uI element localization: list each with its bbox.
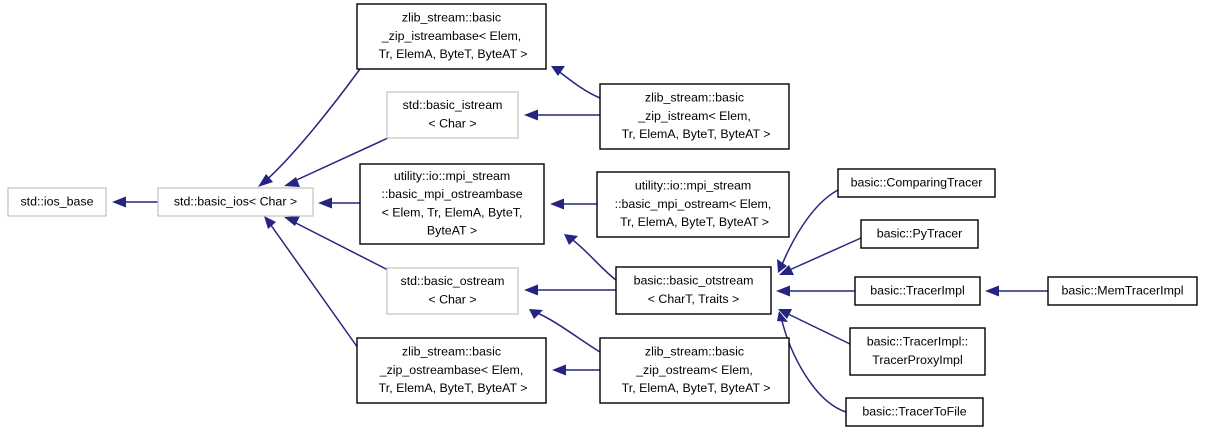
arrowhead-icon <box>112 197 126 208</box>
node-label-line: std::ios_base <box>20 194 93 208</box>
node-label-line: basic::TracerImpl:: <box>867 335 968 349</box>
node-label-line: basic::TracerImpl <box>870 283 965 297</box>
arrowhead-icon <box>776 286 790 297</box>
node-label-line: _zip_istreambase< Elem, <box>381 29 521 43</box>
nodes-layer: std::ios_basestd::basic_ios< Char >zlib_… <box>8 4 1197 426</box>
class-node-tracer_to_file[interactable]: basic::TracerToFile <box>846 398 983 426</box>
node-label-line: Tr, ElemA, ByteT, ByteAT > <box>617 215 769 229</box>
node-label-line: zlib_stream::basic <box>402 345 501 359</box>
edge-zip_istream-to-basic_istream <box>524 110 600 121</box>
node-label-line: _zip_istream< Elem, <box>637 109 751 123</box>
edge-line <box>570 238 616 280</box>
class-node-zip_ostreambase[interactable]: zlib_stream::basic_zip_ostreambase< Elem… <box>357 338 546 403</box>
inheritance-diagram: std::ios_basestd::basic_ios< Char >zlib_… <box>0 0 1205 432</box>
node-label-line: Tr, ElemA, ByteT, ByteAT > <box>618 127 770 141</box>
node-label-line: basic::PyTracer <box>877 226 963 240</box>
arrowhead-icon <box>524 285 538 296</box>
edge-line <box>781 317 846 412</box>
edge-mpi_ostream-to-mpi_ostreambase <box>550 199 597 210</box>
arrowhead-icon <box>985 286 999 297</box>
class-node-basic_ostream[interactable]: std::basic_ostream< Char > <box>387 268 518 314</box>
node-label-line: std::basic_ios< Char > <box>174 194 297 208</box>
node-label-line: TracerProxyImpl <box>872 353 962 367</box>
edge-line <box>268 221 358 348</box>
edge-zip_ostreambase-to-basic_ios <box>264 216 358 348</box>
edge-mem_tracer_impl-to-tracer_impl <box>985 286 1048 297</box>
edge-tracer_impl-to-basic_otstream <box>776 286 855 297</box>
edge-line <box>557 70 600 98</box>
node-label-line: basic::MemTracerImpl <box>1061 283 1183 297</box>
node-label-line: basic::ComparingTracer <box>851 175 983 189</box>
arrowhead-icon <box>524 110 538 121</box>
class-node-ios_base[interactable]: std::ios_base <box>8 188 106 216</box>
edge-mpi_ostreambase-to-basic_ios <box>318 198 360 209</box>
class-node-basic_istream[interactable]: std::basic_istream< Char > <box>387 92 518 138</box>
class-node-mpi_ostreambase[interactable]: utility::io::mpi_stream::basic_mpi_ostre… <box>360 164 544 244</box>
node-label-line: zlib_stream::basic <box>402 11 501 25</box>
class-node-tracer_impl[interactable]: basic::TracerImpl <box>855 277 980 305</box>
arrowhead-icon <box>318 198 332 209</box>
class-node-comparing_tracer[interactable]: basic::ComparingTracer <box>838 169 995 197</box>
node-label-line: _zip_ostreambase< Elem, <box>379 363 524 377</box>
edge-basic_ios-to-ios_base <box>112 197 158 208</box>
edge-basic_otstream-to-basic_ostream <box>524 285 616 296</box>
class-node-zip_istreambase[interactable]: zlib_stream::basic_zip_istreambase< Elem… <box>357 4 546 69</box>
edge-zip_istream-to-zip_istreambase <box>551 66 600 98</box>
node-label-line: < Char > <box>428 116 476 130</box>
node-label-line: zlib_stream::basic <box>645 91 744 105</box>
node-label-line: utility::io::mpi_stream <box>394 169 510 183</box>
arrowhead-icon <box>284 177 300 187</box>
class-node-basic_ios[interactable]: std::basic_ios< Char > <box>158 188 313 216</box>
edge-line <box>263 69 360 183</box>
node-label-line: < Elem, Tr, ElemA, ByteT, <box>382 205 523 219</box>
node-label-line: < CharT, Traits > <box>648 292 740 306</box>
edge-line <box>784 312 850 344</box>
class-node-tracer_proxy_impl[interactable]: basic::TracerImpl::TracerProxyImpl <box>850 328 985 375</box>
class-node-zip_ostream[interactable]: zlib_stream::basic_zip_ostream< Elem, Tr… <box>600 338 789 403</box>
edge-basic_otstream-to-mpi_ostreambase <box>564 234 616 280</box>
node-label-line: Tr, ElemA, ByteT, ByteAT > <box>375 47 527 61</box>
edge-zip_istreambase-to-basic_ios <box>258 69 360 187</box>
node-label-line: _zip_ostream< Elem, <box>635 363 753 377</box>
edge-zip_ostream-to-zip_ostreambase <box>552 365 600 376</box>
node-label-line: ByteAT > <box>427 224 477 238</box>
class-node-basic_otstream[interactable]: basic::basic_otstream< CharT, Traits > <box>616 267 771 314</box>
arrowhead-icon <box>264 216 276 229</box>
arrowhead-icon <box>552 365 566 376</box>
node-label-line: basic::basic_otstream <box>634 274 754 288</box>
node-label-line: ::basic_mpi_ostream< Elem, <box>615 197 772 211</box>
node-label-line: utility::io::mpi_stream <box>635 179 751 193</box>
node-label-line: zlib_stream::basic <box>645 345 744 359</box>
class-node-py_tracer[interactable]: basic::PyTracer <box>861 220 978 248</box>
class-node-zip_istream[interactable]: zlib_stream::basic_zip_istream< Elem, Tr… <box>600 84 789 149</box>
node-label-line: ::basic_mpi_ostreambase <box>381 187 522 201</box>
class-node-mem_tracer_impl[interactable]: basic::MemTracerImpl <box>1048 277 1197 305</box>
node-label-line: Tr, ElemA, ByteT, ByteAT > <box>618 381 770 395</box>
node-label-line: std::basic_ostream <box>401 274 505 288</box>
node-label-line: basic::TracerToFile <box>862 404 966 418</box>
node-label-line: Tr, ElemA, ByteT, ByteAT > <box>375 381 527 395</box>
inheritance-graph-svg: std::ios_basestd::basic_ios< Char >zlib_… <box>0 0 1205 432</box>
edge-line <box>785 238 861 272</box>
node-label-line: < Char > <box>428 292 476 306</box>
class-node-mpi_ostream[interactable]: utility::io::mpi_stream::basic_mpi_ostre… <box>597 172 789 237</box>
arrowhead-icon <box>550 199 564 210</box>
node-label-line: std::basic_istream <box>403 98 503 112</box>
